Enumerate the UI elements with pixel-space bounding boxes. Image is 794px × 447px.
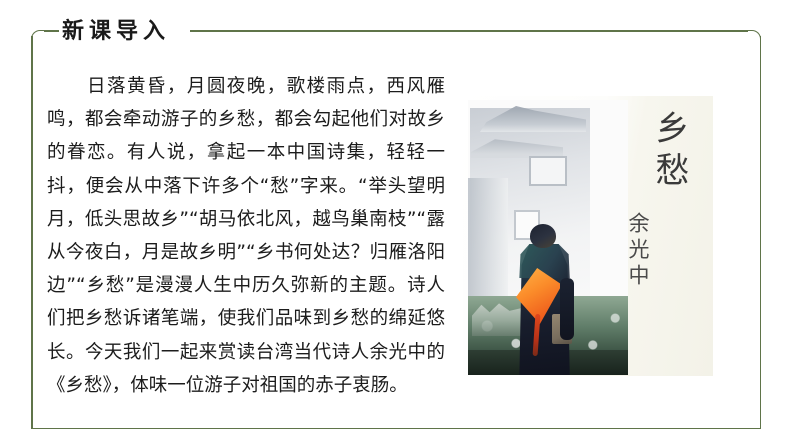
frame-top-rule-left (44, 30, 59, 32)
architecture-window-upper (529, 156, 567, 186)
body-paragraph: 日落黄昏，月圆夜晚，歌楼雨点，西风雁鸣，都会牵动游子的乡愁，都会勾起他们对故乡的… (47, 70, 445, 402)
figure-head-shape (530, 224, 556, 248)
book-cover-image: 乡愁 余光中 (463, 96, 713, 376)
slide-canvas: 新课导入 日落黄昏，月圆夜晚，歌楼雨点，西风雁鸣，都会牵动游子的乡愁，都会勾起他… (0, 0, 794, 447)
frame-bottom-rule (31, 428, 761, 430)
frame-left-rule (31, 36, 33, 429)
cover-title-vertical: 乡愁 (649, 110, 693, 194)
frame-corner-top-left-icon (31, 30, 45, 44)
cover-author-vertical: 余光中 (623, 212, 653, 290)
frame-top-rule-right (190, 30, 748, 32)
page-title: 新课导入 (62, 17, 170, 45)
cover-photograph (468, 100, 628, 375)
figure-arm-shape (560, 278, 574, 340)
frame-right-rule (760, 36, 762, 429)
